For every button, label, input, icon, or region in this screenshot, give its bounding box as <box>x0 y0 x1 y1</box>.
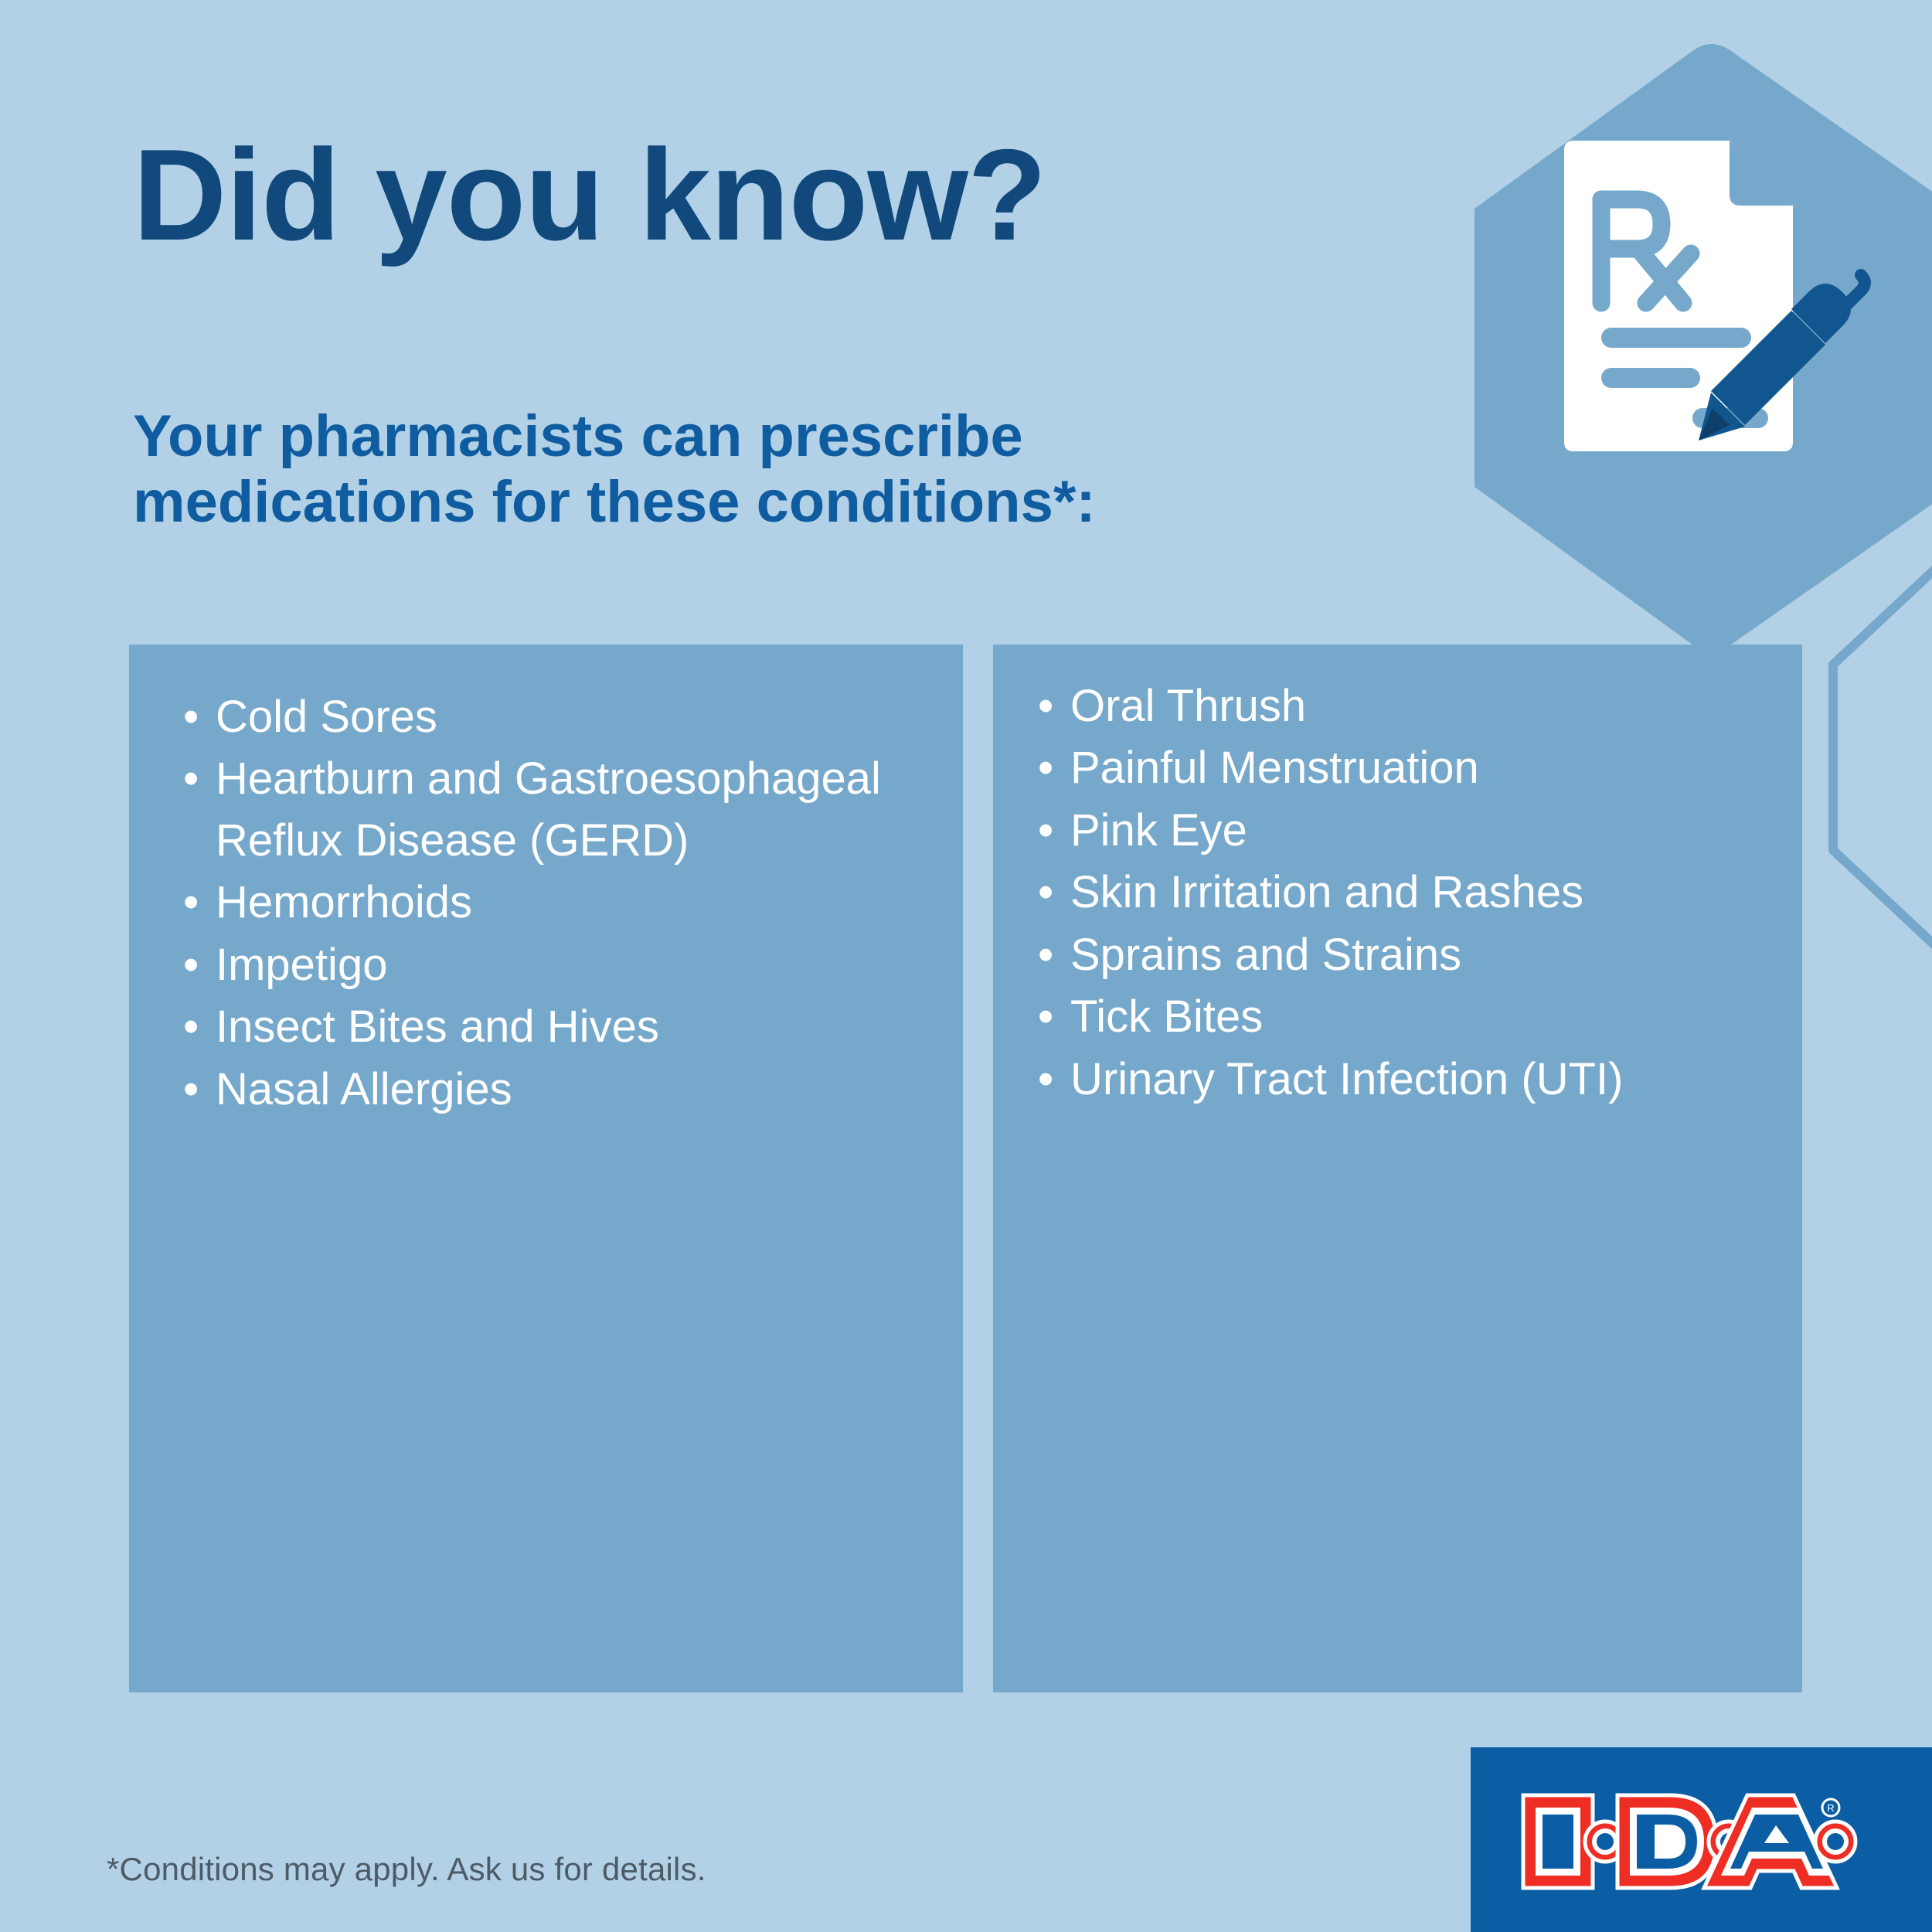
ida-logo-icon: R <box>1519 1791 1859 1893</box>
condition-list-item: Painful Menstruation <box>1038 737 1779 798</box>
condition-list-item: Insect Bites and Hives <box>183 996 932 1057</box>
conditions-list-right: Oral ThrushPainful MenstruationPink EyeS… <box>993 645 1802 1110</box>
condition-list-item: Skin Irritation and Rashes <box>1038 862 1779 923</box>
condition-list-item: Heartburn and Gastroesophageal Reflux Di… <box>183 748 932 871</box>
hexagon-outline-icon <box>1801 541 1932 974</box>
conditions-panel-right: Oral ThrushPainful MenstruationPink EyeS… <box>993 645 1802 1692</box>
condition-list-item: Nasal Allergies <box>183 1059 932 1120</box>
page-subtitle: Your pharmacists can prescribe medicatio… <box>133 403 1096 535</box>
condition-list-item: Hemorrhoids <box>183 872 932 933</box>
condition-list-item: Pink Eye <box>1038 800 1779 861</box>
footnote-text: *Conditions may apply. Ask us for detail… <box>107 1851 706 1888</box>
condition-list-item: Cold Sores <box>183 686 932 747</box>
condition-list-item: Sprains and Strains <box>1038 924 1779 985</box>
condition-list-item: Impetigo <box>183 934 932 995</box>
registered-trademark-symbol: R <box>1827 1802 1834 1814</box>
infographic-canvas: Did you know? Your pharmacists can presc… <box>0 0 1932 1932</box>
ida-logo-block: R <box>1471 1747 1932 1932</box>
conditions-list-left: Cold SoresHeartburn and Gastroesophageal… <box>129 645 963 1120</box>
condition-list-item: Urinary Tract Infection (UTI) <box>1038 1049 1779 1110</box>
condition-list-item: Tick Bites <box>1038 986 1779 1047</box>
condition-list-item: Oral Thrush <box>1038 675 1779 736</box>
page-title: Did you know? <box>133 130 1046 260</box>
prescription-icon <box>1553 139 1901 464</box>
conditions-panel-left: Cold SoresHeartburn and Gastroesophageal… <box>129 645 963 1692</box>
